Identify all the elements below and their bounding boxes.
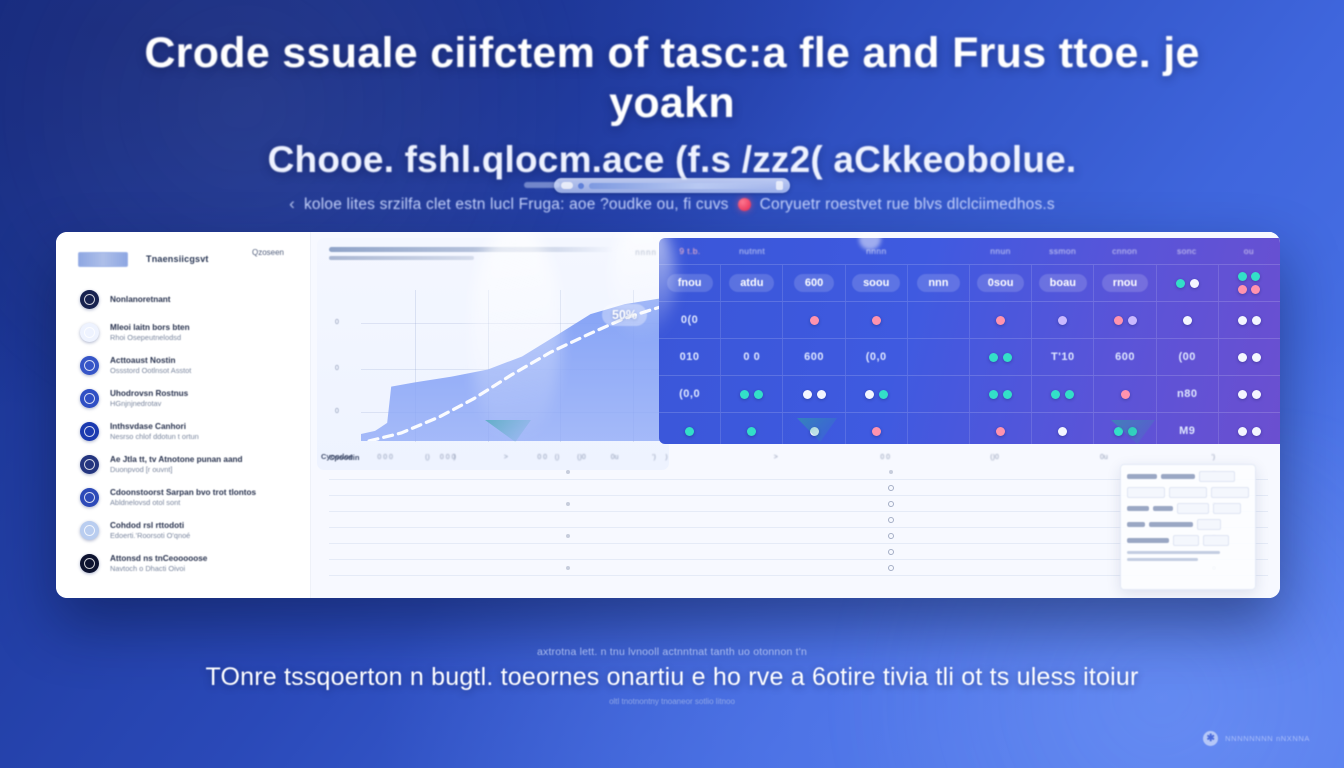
table-cell xyxy=(838,549,946,555)
metrics-cell-2-6[interactable]: T'10 xyxy=(1032,339,1094,375)
sidebar-item-text: Inthsvdase CanhoriNesrso chlof ddotun t … xyxy=(110,422,294,441)
metrics-cell-4-6[interactable] xyxy=(1032,413,1094,444)
metrics-col-header-6[interactable]: ssmon xyxy=(1032,246,1094,256)
bullet-icon xyxy=(566,502,570,506)
status-dot-icon xyxy=(1058,427,1067,436)
metrics-cell-3-6[interactable] xyxy=(1032,376,1094,412)
hero-subtitle-row: ‹ koloe lites srzilfa clet estn lucl Fru… xyxy=(0,195,1344,215)
metric-value: n80 xyxy=(1177,388,1197,400)
watermark-text: NNNNNNNN nNXNNA xyxy=(1225,734,1310,743)
status-dot-icon xyxy=(1128,316,1137,325)
sidebar-item-sublabel: Edoerti.’Roorsoti O'qnoé xyxy=(110,531,294,540)
metrics-cell-4-4[interactable] xyxy=(908,413,970,444)
metrics-cell-1-0[interactable]: 0(0 xyxy=(659,302,721,338)
bullet-icon xyxy=(566,534,570,538)
bullet-icon xyxy=(566,470,570,474)
status-dot-icon xyxy=(1238,272,1247,281)
sidebar-item-sublabel: Ossstord Ootlnsot Asstot xyxy=(110,366,294,375)
sidebar-header-action[interactable]: Qzoseen xyxy=(252,248,284,257)
sidebar-item-label: Nonlanoretnant xyxy=(110,295,294,304)
sidebar-item-text: Ae Jtla tt, tv Atnotone punan aandDuonpv… xyxy=(110,455,294,474)
status-dot-icon xyxy=(1252,390,1261,399)
status-dot-icon xyxy=(1003,353,1012,362)
sidebar-item-label: Inthsvdase Canhori xyxy=(110,422,294,431)
status-dot-icon xyxy=(1128,427,1137,436)
metrics-cell-4-0[interactable] xyxy=(659,413,721,444)
status-dot-icon xyxy=(810,427,819,436)
y-tick-2: 0 xyxy=(335,408,339,415)
table-cell xyxy=(838,485,946,491)
metrics-cell-1-9[interactable] xyxy=(1219,302,1280,338)
sidebar-item-8[interactable]: Attonsd ns tnCeoooooseNavtoch o Dhacti O… xyxy=(74,548,300,578)
metric-pill: rnou xyxy=(1102,274,1148,292)
chart-plot-area: 0 0 0 xyxy=(361,290,663,442)
sidebar-item-text: Mleoi laitn bors btenRhoi Osepeutnelodsd xyxy=(110,323,294,342)
metric-value: 600 xyxy=(804,351,824,363)
sidebar-item-label: Acttoaust Nostin xyxy=(110,356,294,365)
metrics-grid-panel: 9 t.b.nutnntnnnnnnunssmoncnnonsoncou fno… xyxy=(659,238,1280,444)
metric-value: (0,0 xyxy=(866,351,887,363)
metrics-col-header-7[interactable]: cnnon xyxy=(1094,246,1156,256)
user-icon xyxy=(80,422,99,441)
metrics-col-header-1[interactable]: nutnnt xyxy=(721,246,783,256)
metrics-cell-4-5[interactable] xyxy=(970,413,1032,444)
metric-value: M9 xyxy=(1179,425,1195,437)
bullet-icon xyxy=(888,517,894,523)
sidebar-item-text: Acttoaust NostinOssstord Ootlnsot Asstot xyxy=(110,356,294,375)
sidebar-item-label: Cohdod rsl rttodoti xyxy=(110,521,294,530)
status-dot-grid xyxy=(1238,272,1260,294)
metrics-cell-4-9[interactable] xyxy=(1219,413,1280,444)
status-dot-icon xyxy=(1238,353,1247,362)
metrics-cell-3-7[interactable] xyxy=(1094,376,1156,412)
metric-pill: atdu xyxy=(729,274,774,292)
metrics-cell-1-4[interactable] xyxy=(908,302,970,338)
sidebar-item-4[interactable]: Inthsvdase CanhoriNesrso chlof ddotun t … xyxy=(74,416,300,446)
status-dot-icon xyxy=(865,390,874,399)
caption-main: TOnre tssqoerton n bugtl. toeornes onart… xyxy=(0,663,1344,692)
metrics-cell-2-1[interactable]: 0 0 xyxy=(721,339,783,375)
metrics-cell-4-8[interactable]: M9 xyxy=(1157,413,1219,444)
metrics-cell-0-4[interactable]: nnn xyxy=(908,265,970,301)
metrics-row: 0100 0600(0,0T'10600(00 xyxy=(659,338,1280,375)
metrics-cell-0-5[interactable]: 0sou xyxy=(970,265,1032,301)
sidebar-item-label: Uhodrovsn Rostnus xyxy=(110,389,294,398)
metrics-cell-3-5[interactable] xyxy=(970,376,1032,412)
lock-icon xyxy=(578,183,584,189)
chart-panel: nnnn 0 0 0 xyxy=(317,238,669,470)
metrics-col-header-5[interactable]: nnun xyxy=(969,246,1031,256)
status-dot-icon xyxy=(1183,316,1192,325)
data-table-caption: Cpoodin xyxy=(329,453,393,462)
status-dot-icon xyxy=(738,198,751,211)
hero-title-line1: Crode ssuale ciifctem of tasc:a fle and … xyxy=(0,28,1344,129)
sidebar-item-label: Attonsd ns tnCeooooose xyxy=(110,554,294,563)
sidebar-item-sublabel: Nesrso chlof ddotun t ortun xyxy=(110,432,294,441)
metrics-cell-1-6[interactable] xyxy=(1032,302,1094,338)
tab-pill xyxy=(561,182,573,189)
col-5[interactable]: ()0 xyxy=(940,454,1049,461)
leaf-icon xyxy=(80,554,99,573)
metrics-cell-2-7[interactable]: 600 xyxy=(1094,339,1156,375)
status-dot-icon xyxy=(1114,427,1123,436)
network-icon xyxy=(80,290,99,309)
metric-pill: soou xyxy=(852,274,900,292)
col-7[interactable]: ') xyxy=(1159,454,1268,461)
metrics-cell-0-3[interactable]: soou xyxy=(846,265,908,301)
sidebar-item-label: Cdoonstoorst Sarpan bvo trot tlontos xyxy=(110,488,294,497)
metrics-cell-2-3[interactable]: (0,0 xyxy=(846,339,908,375)
status-dot-icon xyxy=(1238,316,1247,325)
hero-subtitle: koloe lites srzilfa clet estn lucl Fruga… xyxy=(304,196,729,214)
metrics-cell-4-3[interactable] xyxy=(846,413,908,444)
sidebar-item-0[interactable]: Nonlanoretnant xyxy=(74,284,300,314)
metric-pill: nnn xyxy=(917,274,959,292)
metrics-cell-2-5[interactable] xyxy=(970,339,1032,375)
col-4[interactable]: 0 0 xyxy=(831,454,940,461)
metrics-cell-2-4[interactable] xyxy=(908,339,970,375)
metrics-cell-0-0[interactable]: fnou xyxy=(659,265,721,301)
status-dot-icon xyxy=(1003,390,1012,399)
status-dot-icon xyxy=(1252,427,1261,436)
status-dot-icon xyxy=(747,427,756,436)
settings-icon xyxy=(80,356,99,375)
metrics-col-header-3[interactable]: nnnn xyxy=(845,246,907,256)
table-cell xyxy=(515,470,623,474)
metrics-row: M9 xyxy=(659,412,1280,444)
status-dot-icon xyxy=(989,390,998,399)
metric-pill: boau xyxy=(1039,274,1087,292)
y-tick-1: 0 xyxy=(335,365,339,372)
stepper-icon[interactable] xyxy=(776,181,783,190)
bullet-icon xyxy=(888,501,894,507)
sidebar-item-label: Mleoi laitn bors bten xyxy=(110,323,294,332)
sidebar-item-5[interactable]: Ae Jtla tt, tv Atnotone punan aandDuonpv… xyxy=(74,449,300,479)
sidebar-item-6[interactable]: Cdoonstoorst Sarpan bvo trot tlontosAbld… xyxy=(74,482,300,512)
address-input[interactable] xyxy=(589,183,771,189)
sidebar-item-1[interactable]: Mleoi laitn bors btenRhoi Osepeutnelodsd xyxy=(74,317,300,347)
metrics-cell-3-9[interactable] xyxy=(1219,376,1280,412)
sidebar-item-text: Nonlanoretnant xyxy=(110,295,294,304)
col-0[interactable]: 0 0 0 xyxy=(393,454,502,461)
metrics-cell-3-2[interactable] xyxy=(783,376,845,412)
status-dot-icon xyxy=(1251,285,1260,294)
status-dot-icon xyxy=(1114,316,1123,325)
status-dot-icon xyxy=(872,427,881,436)
status-dot-icon xyxy=(1238,285,1247,294)
back-chevron-icon[interactable]: ‹ xyxy=(289,194,295,214)
metrics-cell-0-7[interactable]: rnou xyxy=(1094,265,1156,301)
status-dot-icon xyxy=(996,316,1005,325)
table-cell xyxy=(515,534,623,538)
metrics-cell-2-9[interactable] xyxy=(1219,339,1280,375)
status-dot-icon xyxy=(1252,316,1261,325)
hero-subtitle-tail: Coryuetr roestvet rue blvs dlclciimedhos… xyxy=(760,196,1055,214)
metrics-cell-1-5[interactable] xyxy=(970,302,1032,338)
metrics-cell-2-2[interactable]: 600 xyxy=(783,339,845,375)
status-dot-icon xyxy=(1058,316,1067,325)
browser-address-bar[interactable] xyxy=(554,178,790,193)
sidebar-item-sublabel: Rhoi Osepeutnelodsd xyxy=(110,333,294,342)
bullet-icon xyxy=(888,549,894,555)
sidebar-item-sublabel: HGnjnjnedrotav xyxy=(110,399,294,408)
metric-value: 0(0 xyxy=(681,314,698,326)
status-dot-icon xyxy=(996,427,1005,436)
metric-pill: 600 xyxy=(794,274,834,292)
metrics-col-header-0[interactable]: 9 t.b. xyxy=(659,246,721,256)
metric-pill: 0sou xyxy=(977,274,1025,292)
metrics-cell-2-8[interactable]: (00 xyxy=(1157,339,1219,375)
metric-value: 600 xyxy=(1115,351,1135,363)
status-dot-icon xyxy=(1176,279,1185,288)
asterisk-icon: ✱ xyxy=(1203,731,1218,746)
metrics-row: fnouatdu600soounnn0souboaurnou xyxy=(659,264,1280,301)
status-dot-icon xyxy=(1065,390,1074,399)
sidebar-item-sublabel: Navtoch o Dhacti Oivoi xyxy=(110,564,294,573)
metrics-row: (0,0n80 xyxy=(659,375,1280,412)
watermark: ✱ NNNNNNNN nNXNNA xyxy=(1203,731,1310,746)
metrics-cell-3-8[interactable]: n80 xyxy=(1157,376,1219,412)
sidebar-item-text: Uhodrovsn RostnusHGnjnjnedrotav xyxy=(110,389,294,408)
metrics-cell-0-1[interactable]: atdu xyxy=(721,265,783,301)
metrics-cell-3-4[interactable] xyxy=(908,376,970,412)
metrics-cell-2-0[interactable]: 010 xyxy=(659,339,721,375)
metrics-cell-0-6[interactable]: boau xyxy=(1032,265,1094,301)
status-dot-icon xyxy=(817,390,826,399)
bullet-icon xyxy=(889,470,893,474)
status-dot-icon xyxy=(754,390,763,399)
metric-pill: fnou xyxy=(667,274,713,292)
chart-percent-badge: 50% xyxy=(602,304,647,326)
status-dot-icon xyxy=(872,316,881,325)
col-3[interactable]: > xyxy=(721,454,830,461)
chart-subtitle-placeholder xyxy=(329,256,474,260)
bullet-icon xyxy=(566,566,570,570)
status-dot-icon xyxy=(685,427,694,436)
table-cell xyxy=(838,470,946,474)
status-dot-icon xyxy=(740,390,749,399)
table-cell xyxy=(515,566,623,570)
metric-value: 0 0 xyxy=(743,351,760,363)
metrics-cell-3-0[interactable]: (0,0 xyxy=(659,376,721,412)
status-dot-icon xyxy=(1051,390,1060,399)
y-tick-0: 0 xyxy=(335,319,339,326)
chart-title-placeholder xyxy=(329,247,613,252)
table-cell xyxy=(838,533,946,539)
metrics-cell-1-3[interactable] xyxy=(846,302,908,338)
status-dot-icon xyxy=(1238,427,1247,436)
metrics-grid-body: fnouatdu600soounnn0souboaurnou0(00100 06… xyxy=(659,264,1280,444)
metrics-cell-4-7[interactable] xyxy=(1094,413,1156,444)
metrics-row: 0(0 xyxy=(659,301,1280,338)
data-table-header: Cpoodin 0 0 0 () ) > 0 0 ()0 0u ') xyxy=(329,450,1268,464)
metrics-grid-header: 9 t.b.nutnntnnnnnnunssmoncnnonsoncou xyxy=(659,238,1280,264)
col-2[interactable]: ) xyxy=(612,454,721,461)
metric-value: (0,0 xyxy=(679,388,700,400)
status-dot-icon xyxy=(810,316,819,325)
sidebar-item-text: Cohdod rsl rttodotiEdoerti.’Roorsoti O'q… xyxy=(110,521,294,540)
metric-value: 010 xyxy=(680,351,700,363)
status-dot-icon xyxy=(989,353,998,362)
metrics-cell-4-1[interactable] xyxy=(721,413,783,444)
status-dot-icon xyxy=(1251,272,1260,281)
status-dot-icon xyxy=(1121,390,1130,399)
music-icon xyxy=(80,488,99,507)
edit-icon xyxy=(80,455,99,474)
metrics-cell-0-9[interactable] xyxy=(1219,265,1280,301)
status-dot-icon xyxy=(1238,390,1247,399)
chart-badge: nnnn xyxy=(635,248,657,257)
status-dot-icon xyxy=(1252,353,1261,362)
app-logo xyxy=(78,252,128,267)
col-1[interactable]: () xyxy=(502,454,611,461)
hero-caption: axtrotna lett. n tnu lvnooll actnntnat t… xyxy=(0,646,1344,706)
sidebar-item-7[interactable]: Cohdod rsl rttodotiEdoerti.’Roorsoti O'q… xyxy=(74,515,300,545)
sidebar-item-3[interactable]: Uhodrovsn RostnusHGnjnjnedrotav xyxy=(74,383,300,413)
sidebar-item-text: Cdoonstoorst Sarpan bvo trot tlontosAbld… xyxy=(110,488,294,507)
status-dot-icon xyxy=(1190,279,1199,288)
caption-small: axtrotna lett. n tnu lvnooll actnntnat t… xyxy=(0,646,1344,658)
metrics-cell-1-2[interactable] xyxy=(783,302,845,338)
content-area: nnnn 0 0 0 xyxy=(311,232,1280,598)
metrics-col-header-9[interactable]: ou xyxy=(1218,246,1280,256)
caption-tiny: oltl tnotnontny tnoaneor sotlio litnoo xyxy=(0,697,1344,706)
hero-screenshot: Crode ssuale ciifctem of tasc:a fle and … xyxy=(0,0,1344,768)
metrics-cell-3-1[interactable] xyxy=(721,376,783,412)
table-cell xyxy=(838,565,946,571)
chart-header xyxy=(317,238,669,260)
metric-value: (00 xyxy=(1179,351,1196,363)
table-cell xyxy=(515,502,623,506)
metrics-cell-4-2[interactable] xyxy=(783,413,845,444)
globe-icon xyxy=(80,389,99,408)
sidebar-item-sublabel: Abldnelovsd otol sont xyxy=(110,498,294,507)
table-cell xyxy=(838,501,946,507)
sidebar-title: Tnaensiicgsvt xyxy=(146,254,209,264)
status-dot-icon xyxy=(803,390,812,399)
metrics-cell-1-1[interactable] xyxy=(721,302,783,338)
bullet-icon xyxy=(888,565,894,571)
table-cell xyxy=(838,517,946,523)
metrics-cell-3-3[interactable] xyxy=(846,376,908,412)
status-dot-icon xyxy=(879,390,888,399)
metric-value: T'10 xyxy=(1051,351,1075,363)
sidebar-item-text: Attonsd ns tnCeoooooseNavtoch o Dhacti O… xyxy=(110,554,294,573)
sidebar: Tnaensiicgsvt Qzoseen NonlanoretnantMleo… xyxy=(56,232,311,598)
hero-title-line2: Chooe. fshl.qlocm.ace (f.s /zz2( aCkkeob… xyxy=(0,139,1344,181)
metrics-col-header-8[interactable]: sonc xyxy=(1156,246,1218,256)
brain-icon xyxy=(80,521,99,540)
dashboard-card: Tnaensiicgsvt Qzoseen NonlanoretnantMleo… xyxy=(56,232,1280,598)
metrics-cell-1-7[interactable] xyxy=(1094,302,1156,338)
metrics-cell-1-8[interactable] xyxy=(1157,302,1219,338)
detail-popup-panel[interactable] xyxy=(1120,464,1256,590)
sidebar-item-sublabel: Duonpvod [r ouvnt] xyxy=(110,465,294,474)
cloud-icon xyxy=(80,323,99,342)
metrics-cell-0-2[interactable]: 600 xyxy=(783,265,845,301)
sidebar-item-list: NonlanoretnantMleoi laitn bors btenRhoi … xyxy=(56,284,310,578)
sidebar-item-2[interactable]: Acttoaust NostinOssstord Ootlnsot Asstot xyxy=(74,350,300,380)
metrics-cell-0-8[interactable] xyxy=(1157,265,1219,301)
bullet-icon xyxy=(888,485,894,491)
sidebar-item-label: Ae Jtla tt, tv Atnotone punan aand xyxy=(110,455,294,464)
bullet-icon xyxy=(888,533,894,539)
col-6[interactable]: 0u xyxy=(1049,454,1158,461)
